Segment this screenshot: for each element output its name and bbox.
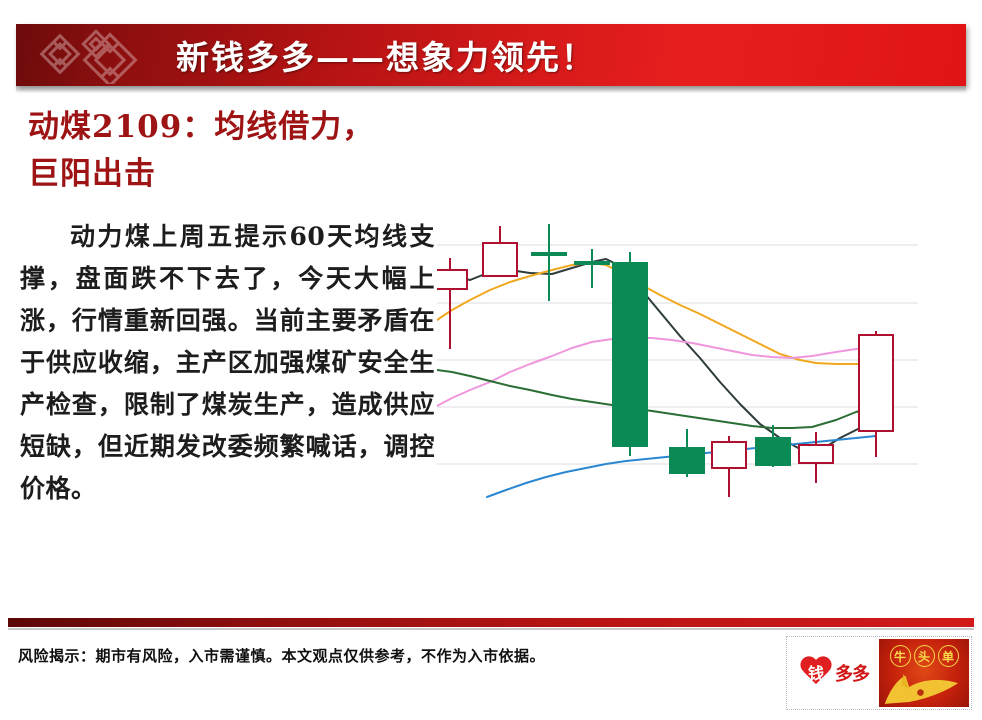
ma-line-ma-green (437, 370, 876, 428)
chinese-knot-icon (34, 26, 174, 84)
footer-divider (8, 618, 974, 627)
header-shadow (16, 86, 966, 93)
header-banner: 新钱多多——想象力领先！ (16, 24, 966, 86)
article-title-line2: 巨阳出击 (28, 151, 448, 198)
article-title: 动煤2109：均线借力， 巨阳出击 (28, 104, 448, 198)
candle-2 (532, 224, 566, 301)
candle-7 (756, 425, 790, 467)
qianduoduo-logo: 钱 多多 (789, 639, 879, 707)
candle-4 (613, 252, 647, 456)
candle-6 (712, 436, 746, 497)
ma-line-ma-orange (437, 263, 876, 364)
logo-strip: 钱 多多 牛 头 单 (786, 636, 972, 710)
footer-divider-thin (8, 628, 974, 630)
ma-line-ma-pink (437, 338, 876, 406)
candlestick-chart (437, 214, 922, 534)
article-body: 动力煤上周五提示60天均线支撑，盘面跌不下去了，今天大幅上涨，行情重新回强。当前… (20, 216, 435, 510)
chart-canvas (437, 214, 922, 534)
candle-8 (799, 432, 833, 483)
ntd-char-3: 单 (938, 645, 959, 667)
candle-1 (483, 226, 517, 276)
qdd-heart-char: 钱 (799, 660, 833, 684)
ntd-char-1: 牛 (890, 645, 911, 667)
article-title-line1: 动煤2109：均线借力， (28, 104, 448, 151)
ntd-char-2: 头 (914, 645, 935, 667)
page-title: 新钱多多——想象力领先！ (176, 31, 596, 79)
niutoudan-logo: 牛 头 单 (879, 639, 969, 707)
golden-bull-icon (881, 665, 966, 707)
candle-5 (670, 429, 704, 477)
risk-disclaimer: 风险揭示：期市有风险，入市需谨慎。本文观点仅供参考，不作为入市依据。 (18, 645, 545, 666)
qdd-label: 多多 (835, 660, 869, 686)
heart-icon: 钱 (799, 657, 833, 689)
candle-3 (575, 249, 609, 288)
ntd-label-group: 牛 头 单 (879, 645, 969, 667)
